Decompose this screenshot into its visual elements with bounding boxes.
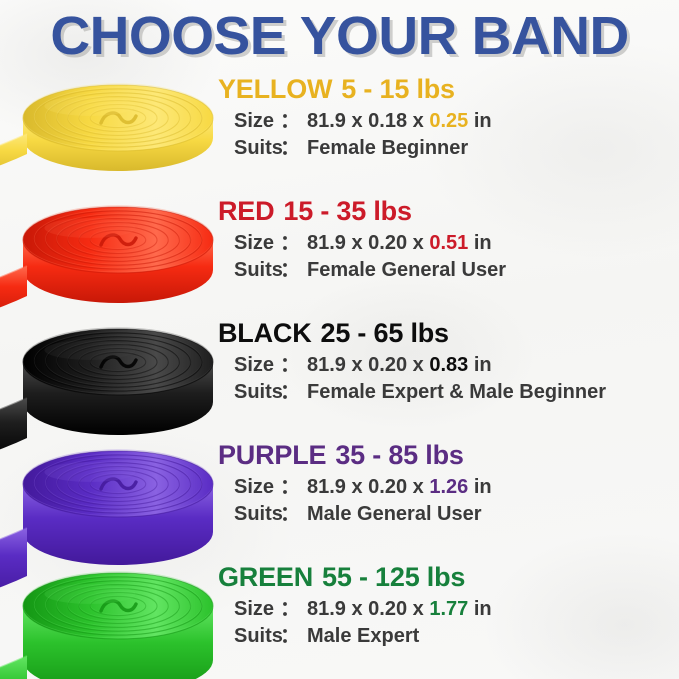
band-color-name: PURPLE — [218, 440, 326, 470]
size-colon: ： — [280, 596, 307, 623]
size-thickness: 1.77 — [429, 598, 468, 620]
band-color-name: BLACK — [218, 318, 312, 348]
size-value: 81.9 x 0.20 x 1.77 in — [307, 596, 492, 623]
size-colon: ： — [280, 474, 307, 501]
size-colon: ： — [280, 352, 307, 379]
size-prefix: 81.9 x 0.18 x — [307, 110, 424, 132]
size-value: 81.9 x 0.20 x 0.51 in — [307, 230, 492, 257]
band-coil-image-green — [0, 558, 212, 679]
band-size-line: Size ： 81.9 x 0.20 x 1.77 in — [218, 596, 679, 623]
band-row: YELLOW5 - 15 lbs Size ： 81.9 x 0.18 x 0.… — [0, 70, 679, 192]
suits-colon: ： — [280, 379, 307, 406]
suits-label: Suits — [218, 135, 280, 162]
size-unit: in — [474, 598, 492, 620]
band-suits-line: Suits ： Male Expert — [218, 623, 679, 650]
size-thickness: 0.83 — [429, 354, 468, 376]
size-label: Size — [218, 352, 280, 379]
band-row: PURPLE35 - 85 lbs Size ： 81.9 x 0.20 x 1… — [0, 436, 679, 558]
suits-colon: ： — [280, 623, 307, 650]
band-size-line: Size ： 81.9 x 0.20 x 0.51 in — [218, 230, 679, 257]
page-title-container: CHOOSE YOUR BAND — [0, 0, 679, 72]
band-suits-line: Suits ： Male General User — [218, 501, 679, 528]
band-coil-image-black — [0, 314, 212, 436]
band-coil-image-yellow — [0, 70, 212, 192]
suits-value: Male General User — [307, 501, 482, 528]
size-prefix: 81.9 x 0.20 x — [307, 232, 424, 254]
size-prefix: 81.9 x 0.20 x — [307, 354, 424, 376]
band-color-name: RED — [218, 196, 274, 226]
suits-label: Suits — [218, 501, 280, 528]
band-weight-range: 35 - 85 lbs — [335, 440, 463, 470]
suits-label: Suits — [218, 379, 280, 406]
size-prefix: 81.9 x 0.20 x — [307, 476, 424, 498]
band-color-name: GREEN — [218, 562, 313, 592]
band-coil-image-purple — [0, 436, 212, 558]
band-heading: BLACK25 - 65 lbs — [218, 318, 679, 348]
size-label: Size — [218, 108, 280, 135]
size-value: 81.9 x 0.18 x 0.25 in — [307, 108, 492, 135]
suits-colon: ： — [280, 135, 307, 162]
band-info: BLACK25 - 65 lbs Size ： 81.9 x 0.20 x 0.… — [212, 314, 679, 406]
band-color-name: YELLOW — [218, 74, 332, 104]
band-info: RED15 - 35 lbs Size ： 81.9 x 0.20 x 0.51… — [212, 192, 679, 284]
band-weight-range: 5 - 15 lbs — [341, 74, 455, 104]
size-colon: ： — [280, 230, 307, 257]
band-info: GREEN55 - 125 lbs Size ： 81.9 x 0.20 x 1… — [212, 558, 679, 650]
size-value: 81.9 x 0.20 x 1.26 in — [307, 474, 492, 501]
suits-label: Suits — [218, 257, 280, 284]
band-heading: PURPLE35 - 85 lbs — [218, 440, 679, 470]
suits-colon: ： — [280, 501, 307, 528]
size-unit: in — [474, 110, 492, 132]
size-unit: in — [474, 354, 492, 376]
suits-value: Male Expert — [307, 623, 419, 650]
band-row: GREEN55 - 125 lbs Size ： 81.9 x 0.20 x 1… — [0, 558, 679, 679]
band-list: YELLOW5 - 15 lbs Size ： 81.9 x 0.18 x 0.… — [0, 70, 679, 679]
band-heading: RED15 - 35 lbs — [218, 196, 679, 226]
band-size-line: Size ： 81.9 x 0.20 x 0.83 in — [218, 352, 679, 379]
suits-label: Suits — [218, 623, 280, 650]
band-heading: YELLOW5 - 15 lbs — [218, 74, 679, 104]
size-label: Size — [218, 474, 280, 501]
band-coil-image-red — [0, 192, 212, 314]
band-info: YELLOW5 - 15 lbs Size ： 81.9 x 0.18 x 0.… — [212, 70, 679, 162]
band-size-line: Size ： 81.9 x 0.18 x 0.25 in — [218, 108, 679, 135]
band-heading: GREEN55 - 125 lbs — [218, 562, 679, 592]
suits-value: Female Beginner — [307, 135, 468, 162]
size-thickness: 1.26 — [429, 476, 468, 498]
size-label: Size — [218, 230, 280, 257]
band-size-line: Size ： 81.9 x 0.20 x 1.26 in — [218, 474, 679, 501]
page-title: CHOOSE YOUR BAND — [50, 5, 628, 67]
band-suits-line: Suits ： Female General User — [218, 257, 679, 284]
band-weight-range: 15 - 35 lbs — [283, 196, 411, 226]
band-weight-range: 55 - 125 lbs — [322, 562, 465, 592]
size-unit: in — [474, 232, 492, 254]
band-suits-line: Suits ： Female Beginner — [218, 135, 679, 162]
size-thickness: 0.51 — [429, 232, 468, 254]
size-colon: ： — [280, 108, 307, 135]
suits-colon: ： — [280, 257, 307, 284]
band-row: RED15 - 35 lbs Size ： 81.9 x 0.20 x 0.51… — [0, 192, 679, 314]
band-weight-range: 25 - 65 lbs — [321, 318, 449, 348]
band-info: PURPLE35 - 85 lbs Size ： 81.9 x 0.20 x 1… — [212, 436, 679, 528]
size-value: 81.9 x 0.20 x 0.83 in — [307, 352, 492, 379]
size-unit: in — [474, 476, 492, 498]
band-row: BLACK25 - 65 lbs Size ： 81.9 x 0.20 x 0.… — [0, 314, 679, 436]
suits-value: Female Expert & Male Beginner — [307, 379, 606, 406]
infographic-page: CHOOSE YOUR BAND — [0, 0, 679, 679]
size-prefix: 81.9 x 0.20 x — [307, 598, 424, 620]
band-suits-line: Suits ： Female Expert & Male Beginner — [218, 379, 679, 406]
suits-value: Female General User — [307, 257, 506, 284]
size-label: Size — [218, 596, 280, 623]
size-thickness: 0.25 — [429, 110, 468, 132]
